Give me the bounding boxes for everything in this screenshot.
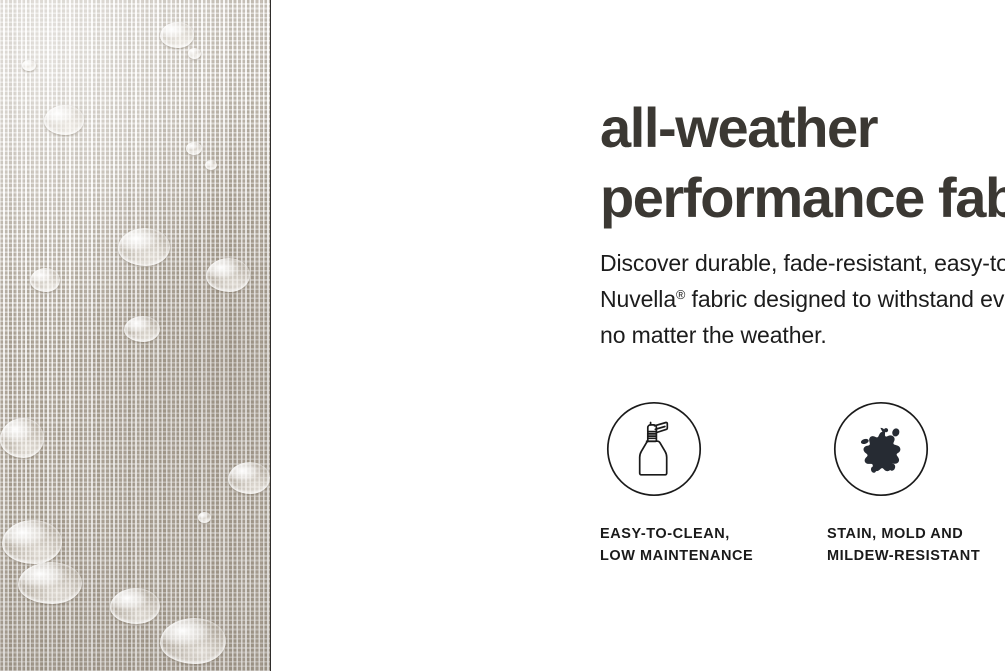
description-line-1: Discover durable, fade-resistant, easy-t… [600,250,1005,276]
water-droplet [124,316,160,342]
feature-caption: EASY-TO-CLEAN, LOW MAINTENANCE [600,523,827,567]
water-droplet [198,512,211,523]
water-droplet [228,462,270,494]
water-droplet [160,22,194,48]
spray-bottle-icon [606,401,702,497]
stain-splat-icon [833,401,929,497]
water-droplet [118,228,170,266]
water-droplet [206,258,250,292]
description-line-3: no matter the weather. [600,322,827,348]
feature-item-stain-resistant: STAIN, MOLD AND MILDEW-RESISTANT [827,401,1005,567]
water-droplet [44,105,84,135]
water-droplet [188,48,201,59]
fabric-photo-panel [0,0,271,671]
registered-trademark-icon: ® [676,288,685,302]
water-droplet [30,268,60,292]
page-title: all-weather performance fabric [600,93,1005,233]
water-droplet [110,588,160,624]
water-droplet [22,60,36,71]
description-line-2: fabric designed to withstand everyday li… [685,286,1005,312]
water-droplet [0,418,44,458]
promo-content: all-weather performance fabric Discover … [271,0,1005,671]
water-droplet [18,562,82,604]
water-droplet [186,142,202,155]
all-weather-fabric-promo: all-weather performance fabric Discover … [0,0,1005,671]
water-droplet [205,160,217,170]
water-droplet [160,618,226,664]
promo-description: Discover durable, fade-resistant, easy-t… [600,245,1005,353]
feature-caption: STAIN, MOLD AND MILDEW-RESISTANT [827,523,1005,567]
water-droplet [2,520,62,564]
brand-name: Nuvella [600,286,676,312]
feature-list: EASY-TO-CLEAN, LOW MAINTENANCE STAIN, M [600,401,1005,567]
feature-item-easy-to-clean: EASY-TO-CLEAN, LOW MAINTENANCE [600,401,827,567]
